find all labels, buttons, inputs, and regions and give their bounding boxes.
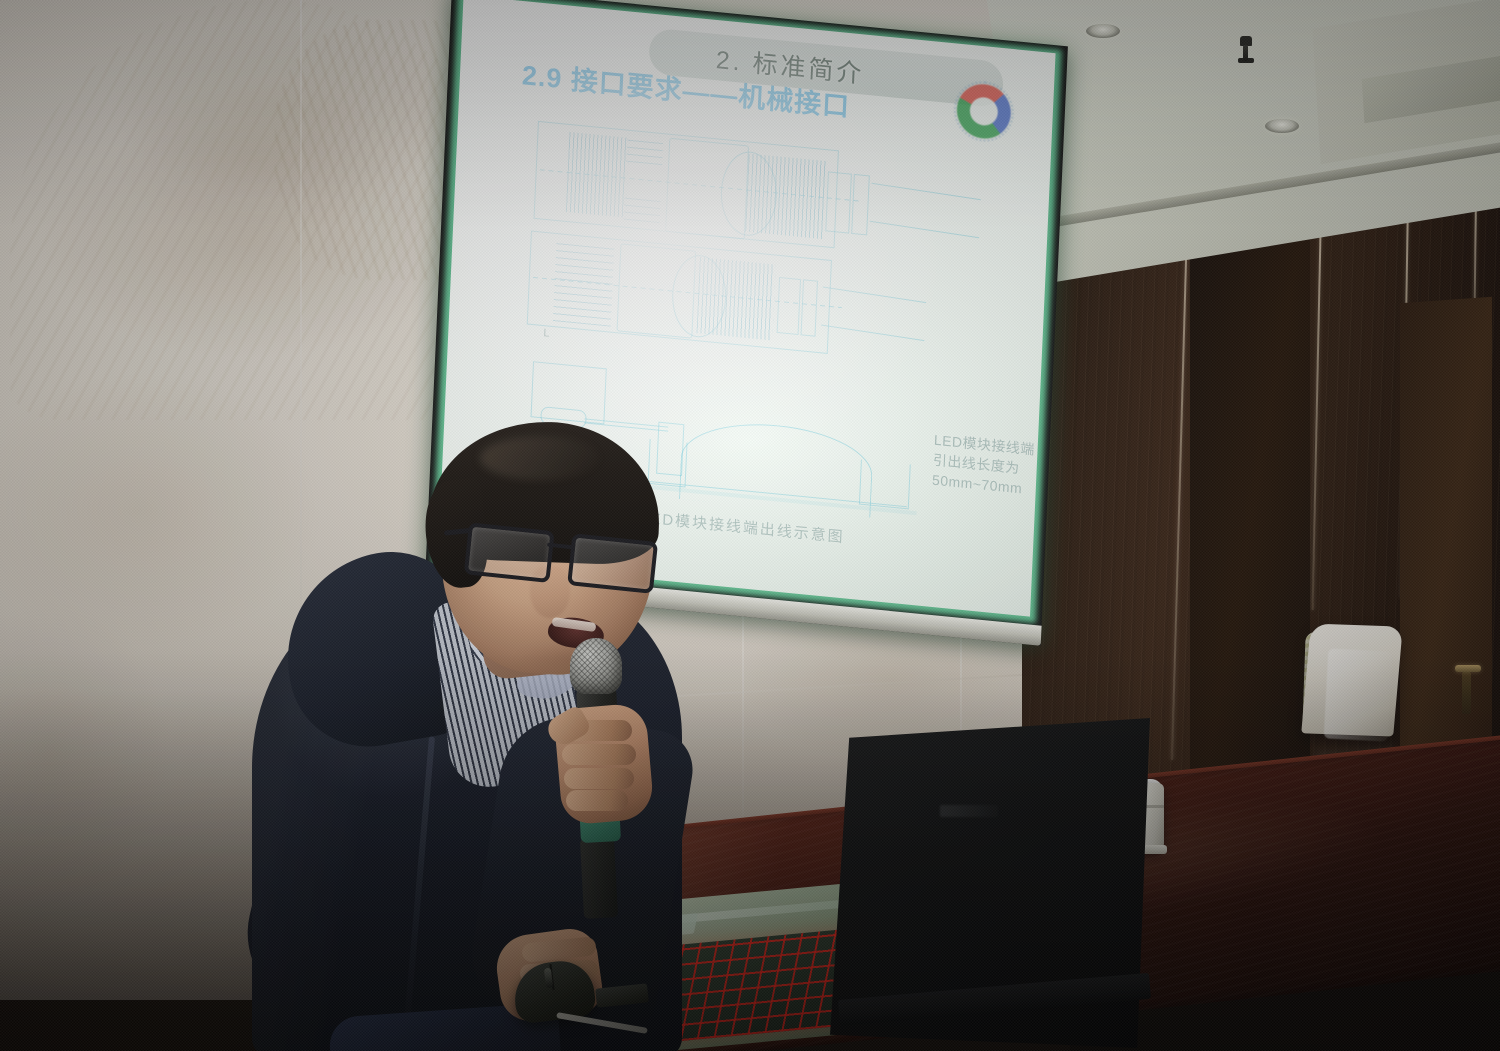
presenter: [230, 420, 750, 1051]
drawing-dimension-label: L: [543, 326, 550, 341]
drawing-hatch: [624, 194, 661, 223]
drawing-leader: [870, 221, 979, 238]
microphone-tail: [580, 837, 618, 919]
chair-cover-drape: [1324, 648, 1393, 741]
drawing-hatch: [626, 134, 663, 165]
glasses-lens-right: [567, 533, 658, 594]
microphone-grille: [570, 638, 622, 694]
laptop-logo: [940, 805, 998, 817]
drawing-detail: [851, 174, 870, 236]
drawing-detail: [801, 279, 818, 336]
finger: [566, 790, 628, 811]
hair-highlight: [480, 436, 600, 480]
finger: [564, 768, 634, 789]
drawing-detail: [777, 277, 801, 335]
drawing-detail: [825, 171, 852, 233]
organization-emblem-icon: [956, 82, 1012, 141]
drawing-leader: [821, 325, 924, 342]
downlight-icon: [1265, 119, 1299, 133]
glasses-lens-left: [464, 522, 555, 583]
door-lock-plate: [1462, 672, 1471, 714]
photo-scene: 2. 标准简介 2.9 接口要求——机械接口: [0, 0, 1500, 1051]
drawing-leader: [823, 287, 926, 304]
fire-sprinkler-icon: [1240, 36, 1252, 46]
door-handle-icon[interactable]: [1455, 665, 1481, 672]
drawing-leader: [872, 183, 981, 200]
finger: [562, 744, 636, 765]
downlight-icon: [1086, 24, 1120, 38]
